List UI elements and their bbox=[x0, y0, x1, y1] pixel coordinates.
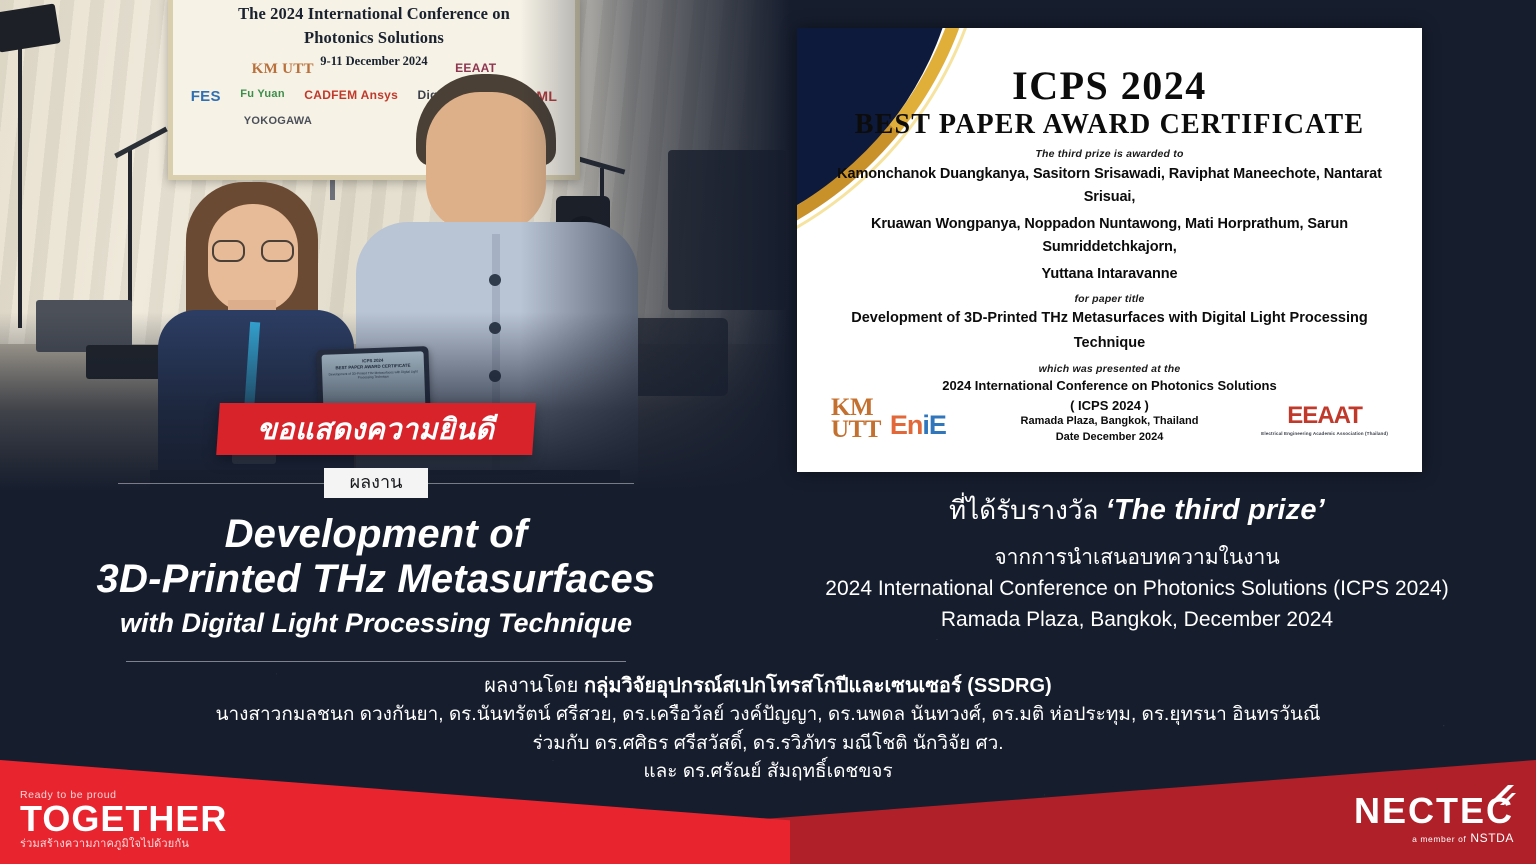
nectec-member-prefix: a member of bbox=[1412, 834, 1466, 844]
enie-prefix: En bbox=[890, 410, 923, 440]
certificate-recipients-line3: Yuttana Intaravanne bbox=[823, 263, 1396, 286]
certificate-logo-eeaat: EEAAT Electrical Engineering Academic As… bbox=[1261, 402, 1388, 436]
certificate-awarded-to-label: The third prize is awarded to bbox=[823, 148, 1396, 160]
certificate-recipients-line1: Kamonchanok Duangkanya, Sasitorn Srisawa… bbox=[823, 163, 1396, 210]
credits-by-prefix: ผลงานโดย bbox=[484, 675, 578, 697]
sponsor-logo-fes: FES bbox=[189, 86, 223, 107]
award-conference: 2024 International Conference on Photoni… bbox=[742, 573, 1532, 604]
shirt-button bbox=[489, 274, 501, 286]
eeaat-mark: EEAAT bbox=[1261, 402, 1388, 430]
credits-collaborators: ร่วมกับ ดร.ศศิธร ศรีสวัสดิ์, ดร.รวิภัทร … bbox=[0, 730, 1536, 759]
work-chip-row: ผลงาน bbox=[20, 466, 732, 500]
credits-group-line: ผลงานโดย กลุ่มวิจัยอุปกรณ์สเปกโทรสโกปีแล… bbox=[0, 672, 1536, 701]
photo-bottom-fade bbox=[0, 312, 790, 492]
certificate-logo-kmutt: KM UTT bbox=[831, 397, 881, 441]
certificate-paper-title-line1: Development of 3D-Printed THz Metasurfac… bbox=[823, 307, 1396, 330]
work-title-block: ผลงาน Development of 3D-Printed THz Meta… bbox=[20, 466, 732, 662]
mic-stand-pole bbox=[18, 28, 22, 328]
nstda-wordmark: NSTDA bbox=[1470, 831, 1514, 845]
kmutt-line2: UTT bbox=[831, 419, 881, 441]
sponsor-logo-kmutt: KM UTT bbox=[250, 59, 316, 80]
sponsor-logo-yokogawa: YOKOGAWA bbox=[242, 113, 314, 131]
banner-title-line1: The 2024 International Conference on bbox=[173, 5, 575, 23]
certificate-recipients-line2: Kruawan Wongpanya, Noppadon Nuntawong, M… bbox=[823, 213, 1396, 260]
nectec-swoosh-icon bbox=[1490, 781, 1516, 807]
together-thai-tagline: ร่วมสร้างความภาคภูมิใจไปด้วยกัน bbox=[20, 839, 227, 850]
eyeglasses-icon bbox=[212, 240, 294, 262]
footer-chevron-band bbox=[0, 760, 1536, 864]
together-wordmark: TOGETHER bbox=[20, 800, 227, 838]
congratulations-poster: The 2024 International Conference on Pho… bbox=[0, 0, 1536, 864]
award-prize-text: ‘The third prize’ bbox=[1106, 494, 1325, 526]
certificate-paper-title-line2: Technique bbox=[823, 332, 1396, 355]
congratulations-banner: ขอแสดงความยินดี bbox=[216, 403, 536, 455]
credits-group-name: กลุ่มวิจัยอุปกรณ์สเปกโทรสโกปีและเซนเซอร์… bbox=[584, 675, 1052, 697]
together-logo: Ready to be proud TOGETHER ร่วมสร้างความ… bbox=[20, 790, 227, 850]
paper-title-line2: 3D-Printed THz Metasurfaces bbox=[20, 557, 732, 602]
nectec-logo: NECTEC a member of NSTDA bbox=[1354, 793, 1514, 844]
award-from-label: จากการนำเสนอบทความในงาน bbox=[742, 542, 1532, 573]
award-info-block: ที่ได้รับรางวัล ‘The third prize’ จากการ… bbox=[742, 492, 1532, 635]
award-headline: ที่ได้รับรางวัล ‘The third prize’ bbox=[742, 492, 1532, 528]
eeaat-subtitle: Electrical Engineering Academic Associat… bbox=[1261, 431, 1388, 436]
certificate-title: ICPS 2024 bbox=[823, 66, 1396, 106]
work-label-chip: ผลงาน bbox=[324, 468, 429, 498]
certificate-logo-row: KM UTT EniE EEAAT Electrical Engineering… bbox=[797, 382, 1422, 456]
award-prefix-text: ที่ได้รับรางวัล bbox=[949, 495, 1098, 525]
certificate-presented-label: which was presented at the bbox=[823, 363, 1396, 375]
congratulations-text: ขอแสดงความยินดี bbox=[257, 406, 494, 452]
paper-title-line3: with Digital Light Processing Technique bbox=[20, 606, 732, 641]
certificate-image: ICPS 2024 BEST PAPER AWARD CERTIFICATE T… bbox=[797, 28, 1422, 472]
enie-suffix: iE bbox=[922, 410, 946, 440]
nectec-member-line: a member of NSTDA bbox=[1354, 832, 1514, 844]
credits-authors: นางสาวกมลชนก ดวงกันยา, ดร.นันทรัตน์ ศรีส… bbox=[0, 701, 1536, 730]
title-divider-rule bbox=[126, 661, 626, 662]
paper-title-line1: Development of bbox=[20, 512, 732, 557]
certificate-paper-label: for paper title bbox=[823, 293, 1396, 305]
sponsor-logo-fuyuan: Fu Yuan bbox=[238, 86, 287, 107]
certificate-logo-enie: EniE bbox=[890, 410, 946, 441]
certificate-subtitle: BEST PAPER AWARD CERTIFICATE bbox=[823, 110, 1396, 141]
paper-title-english: Development of 3D-Printed THz Metasurfac… bbox=[20, 512, 732, 641]
award-venue-date: Ramada Plaza, Bangkok, December 2024 bbox=[742, 604, 1532, 635]
banner-title-line2: Photonics Solutions bbox=[173, 29, 575, 47]
